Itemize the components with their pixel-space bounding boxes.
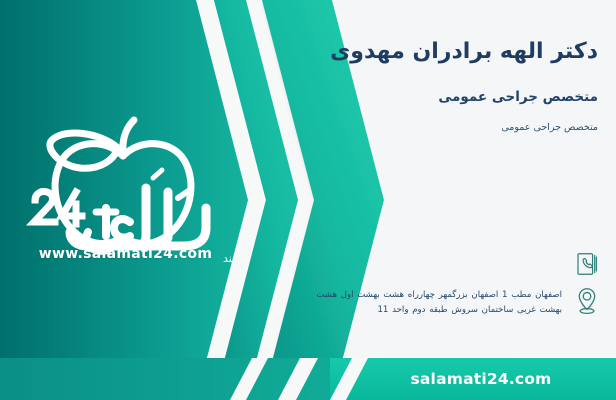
contact-address-value: اصفهان مطب 1 اصفهان بزرگمهر چهارراه هشت … <box>306 284 562 318</box>
footer-site-url[interactable]: salamati24.com <box>346 358 616 400</box>
logo-website-url[interactable]: www.salamati24.com <box>18 246 233 262</box>
contact-row-phone[interactable] <box>306 248 602 280</box>
location-pin-icon <box>572 284 602 316</box>
specialty-secondary: متخصص جراحی عمومی <box>286 106 598 134</box>
address-line-2: بهشت غربی ساختمان سروش طبقه دوم واحد 11 <box>306 303 562 318</box>
footer: salamati24.com <box>0 358 616 400</box>
page-title: دکتر الهه برادران مهدوی <box>286 0 598 67</box>
contact-block: اصفهان مطب 1 اصفهان بزرگمهر چهارراه هشت … <box>306 248 602 322</box>
business-card: به راحتی یک لبخند www.salamati24.com دکت… <box>0 0 616 400</box>
contact-phone-value <box>306 248 562 274</box>
phone-book-icon <box>572 248 602 280</box>
contact-row-address[interactable]: اصفهان مطب 1 اصفهان بزرگمهر چهارراه هشت … <box>306 284 602 318</box>
apple-leaf-icon <box>50 133 118 168</box>
specialty-primary: متخصص جراحی عمومی <box>286 67 598 107</box>
address-line-1: اصفهان مطب 1 اصفهان بزرگمهر چهارراه هشت … <box>306 288 562 303</box>
